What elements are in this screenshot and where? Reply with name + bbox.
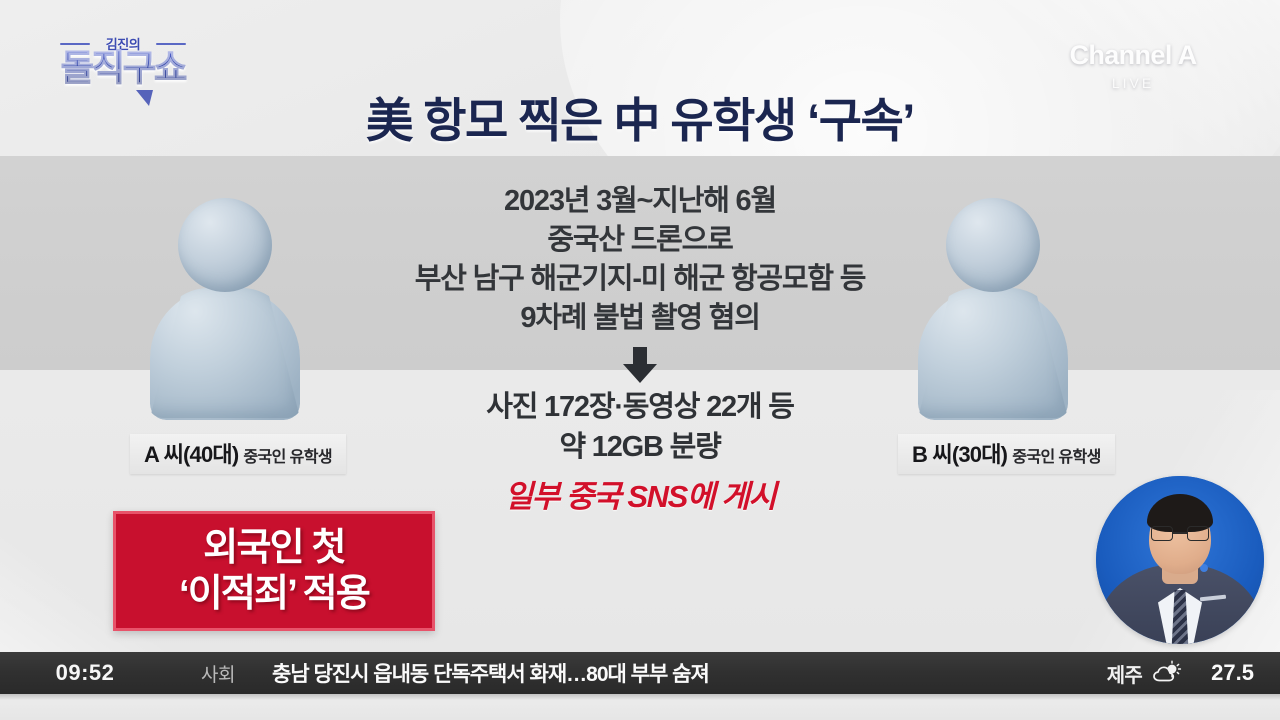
ticker-headline: 충남 당진시 읍내동 단독주택서 화재…80대 부부 숨져	[266, 658, 1107, 688]
page-title: 美 항모 찍은 中 유학생 ‘구속’	[0, 82, 1280, 151]
glasses-bridge	[1173, 532, 1187, 534]
ticker-category: 사회	[170, 660, 266, 687]
sun-behind-cloud-icon	[1152, 660, 1182, 686]
person-desc-a: 중국인 유학생	[243, 449, 332, 466]
glasses-icon	[1151, 526, 1209, 542]
center-line-4: 9차례 불법 촬영 혐의	[330, 299, 950, 338]
glasses-lens-right	[1187, 526, 1209, 541]
red-banner-line-2: ‘이적죄’ 적용	[179, 571, 369, 617]
channel-name: Channel A	[1038, 40, 1228, 71]
weather-temperature: 27.5	[1192, 660, 1254, 686]
ticker-shadow	[0, 694, 1280, 700]
center-line-1: 2023년 3월~지난해 6월	[330, 182, 950, 221]
center-line-3: 부산 남구 해군기지-미 해군 항공모함 등	[330, 260, 950, 299]
news-ticker-bar: 09:52 사회 충남 당진시 읍내동 단독주택서 화재…80대 부부 숨져 제…	[0, 652, 1280, 694]
center-info-block: 2023년 3월~지난해 6월 중국산 드론으로 부산 남구 해군기지-미 해군…	[330, 182, 950, 516]
person-silhouette-icon	[130, 196, 320, 428]
broadcast-screen: 김진의 돌직구쇼 Channel A LIVE 美 항모 찍은 中 유학생 ‘구…	[0, 0, 1280, 720]
glasses-lens-left	[1151, 526, 1173, 541]
center-line-2: 중국산 드론으로	[330, 221, 950, 260]
person-head-shape	[946, 198, 1040, 292]
person-name-a: A 씨(40대)	[144, 442, 238, 467]
arrow-down-icon	[623, 347, 657, 383]
ticker-clock: 09:52	[0, 660, 170, 686]
weather-region: 제주	[1107, 659, 1142, 688]
person-label-a: A 씨(40대)중국인 유학생	[130, 434, 346, 474]
person-card-a: A 씨(40대)중국인 유학생	[130, 196, 320, 474]
center-emphasis-line: 일부 중국 SNS에 게시	[330, 471, 950, 516]
person-desc-b: 중국인 유학생	[1012, 449, 1101, 466]
ticker-weather: 제주 27.5	[1107, 659, 1280, 688]
center-result-line-2: 약 12GB 분량	[330, 427, 950, 467]
red-highlight-banner: 외국인 첫 ‘이적죄’ 적용	[113, 511, 435, 631]
center-result-line-1: 사진 172장·동영상 22개 등	[330, 387, 950, 427]
person-head-shape	[178, 198, 272, 292]
news-anchor-photo	[1096, 476, 1264, 644]
arrow-head	[623, 364, 657, 383]
red-banner-line-1: 외국인 첫	[203, 525, 344, 571]
